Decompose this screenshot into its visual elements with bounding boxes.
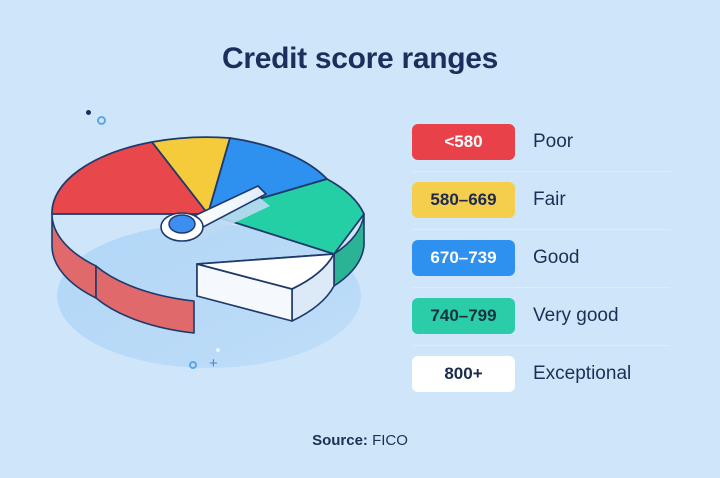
legend-label-fair: Fair	[533, 189, 566, 211]
source-label: Source:	[312, 432, 368, 449]
page-title: Credit score ranges	[0, 42, 720, 76]
source-value: FICO	[372, 432, 408, 449]
legend-label-exceptional: Exceptional	[533, 363, 631, 385]
decor-ring-icon	[97, 116, 106, 125]
infographic-root: Credit score ranges	[0, 0, 720, 478]
pie-chart-svg	[34, 96, 394, 396]
legend-label-very-good: Very good	[533, 305, 619, 327]
legend-badge-poor: <580	[412, 124, 515, 160]
legend-badge-exceptional: 800+	[412, 356, 515, 392]
legend-row-good[interactable]: 670–739 Good	[412, 229, 674, 287]
legend-badge-very-good: 740–799	[412, 298, 515, 334]
legend-label-good: Good	[533, 247, 579, 269]
credit-score-pie-chart: +	[34, 96, 394, 396]
decor-ring-small-icon	[189, 361, 197, 369]
legend-badge-good: 670–739	[412, 240, 515, 276]
legend-label-poor: Poor	[533, 131, 573, 153]
decor-plus-icon: +	[209, 358, 221, 370]
legend-badge-fair: 580–669	[412, 182, 515, 218]
decor-dot-icon	[86, 110, 91, 115]
decor-dot-light-icon	[216, 348, 220, 352]
source-attribution: Source: FICO	[0, 432, 720, 449]
legend-row-exceptional[interactable]: 800+ Exceptional	[412, 345, 674, 403]
legend: <580 Poor 580–669 Fair 670–739 Good 740–…	[412, 113, 674, 403]
legend-row-poor[interactable]: <580 Poor	[412, 113, 674, 171]
legend-row-very-good[interactable]: 740–799 Very good	[412, 287, 674, 345]
legend-row-fair[interactable]: 580–669 Fair	[412, 171, 674, 229]
